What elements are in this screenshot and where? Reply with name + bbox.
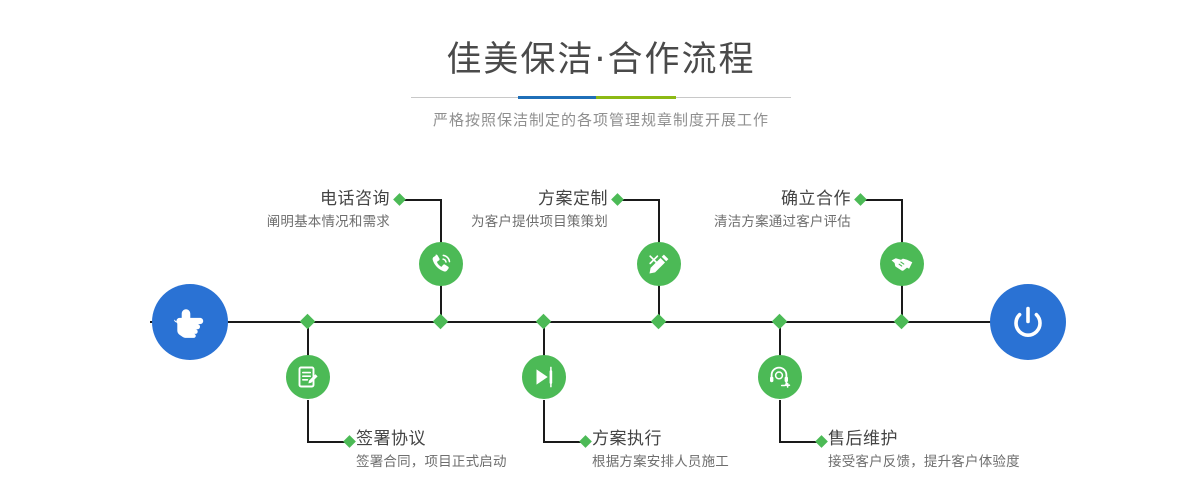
- axis-diamond-step-1: [433, 314, 449, 330]
- diamond-step-5: [854, 193, 867, 206]
- step-label-5: 确立合作 清洁方案通过客户评估: [580, 188, 851, 233]
- step-title-3: 方案定制: [340, 188, 608, 211]
- page-title: 佳美保洁·合作流程: [0, 0, 1202, 82]
- divider-segment-green: [596, 96, 676, 99]
- axis-diamond-step-6: [772, 314, 788, 330]
- axis-diamond-step-3: [651, 314, 667, 330]
- step-desc-6: 接受客户反馈，提升客户体验度: [828, 451, 1158, 473]
- step-icon-5[interactable]: [880, 242, 924, 286]
- customer-service-icon: [767, 364, 793, 390]
- power-icon: [1006, 300, 1050, 344]
- pointing-hand-icon: [168, 300, 212, 344]
- axis-diamond-step-4: [536, 314, 552, 330]
- step-icon-4[interactable]: [522, 355, 566, 399]
- connector-step-5-vertical: [901, 199, 903, 247]
- flow-diagram-page: 佳美保洁·合作流程 严格按照保洁制定的各项管理规章制度开展工作: [0, 0, 1202, 502]
- step-title-6: 售后维护: [828, 428, 1158, 451]
- page-header: 佳美保洁·合作流程 严格按照保洁制定的各项管理规章制度开展工作: [0, 0, 1202, 131]
- divider-segment-blue: [518, 96, 596, 99]
- step-desc-3: 为客户提供项目策策划: [340, 211, 608, 233]
- timeline-end-node[interactable]: [990, 284, 1066, 360]
- step-label-6: 售后维护 接受客户反馈，提升客户体验度: [828, 428, 1158, 473]
- connector-step-2-vertical: [307, 400, 309, 442]
- step-icon-6[interactable]: [758, 355, 802, 399]
- pen-plan-icon: [646, 251, 672, 277]
- axis-diamond-step-2: [300, 314, 316, 330]
- step-icon-3[interactable]: [637, 242, 681, 286]
- step-icon-1[interactable]: [419, 242, 463, 286]
- handshake-icon: [889, 251, 915, 277]
- diamond-step-2: [343, 435, 356, 448]
- step-desc-5: 清洁方案通过客户评估: [580, 211, 851, 233]
- page-subtitle: 严格按照保洁制定的各项管理规章制度开展工作: [0, 99, 1202, 131]
- play-forward-icon: [531, 364, 557, 390]
- timeline-axis: [150, 321, 1052, 323]
- document-edit-icon: [295, 364, 321, 390]
- step-icon-2[interactable]: [286, 355, 330, 399]
- title-divider: [411, 96, 791, 99]
- timeline-start-node[interactable]: [152, 284, 228, 360]
- axis-diamond-step-5: [894, 314, 910, 330]
- step-label-3: 方案定制 为客户提供项目策策划: [340, 188, 608, 233]
- phone-call-icon: [428, 251, 454, 277]
